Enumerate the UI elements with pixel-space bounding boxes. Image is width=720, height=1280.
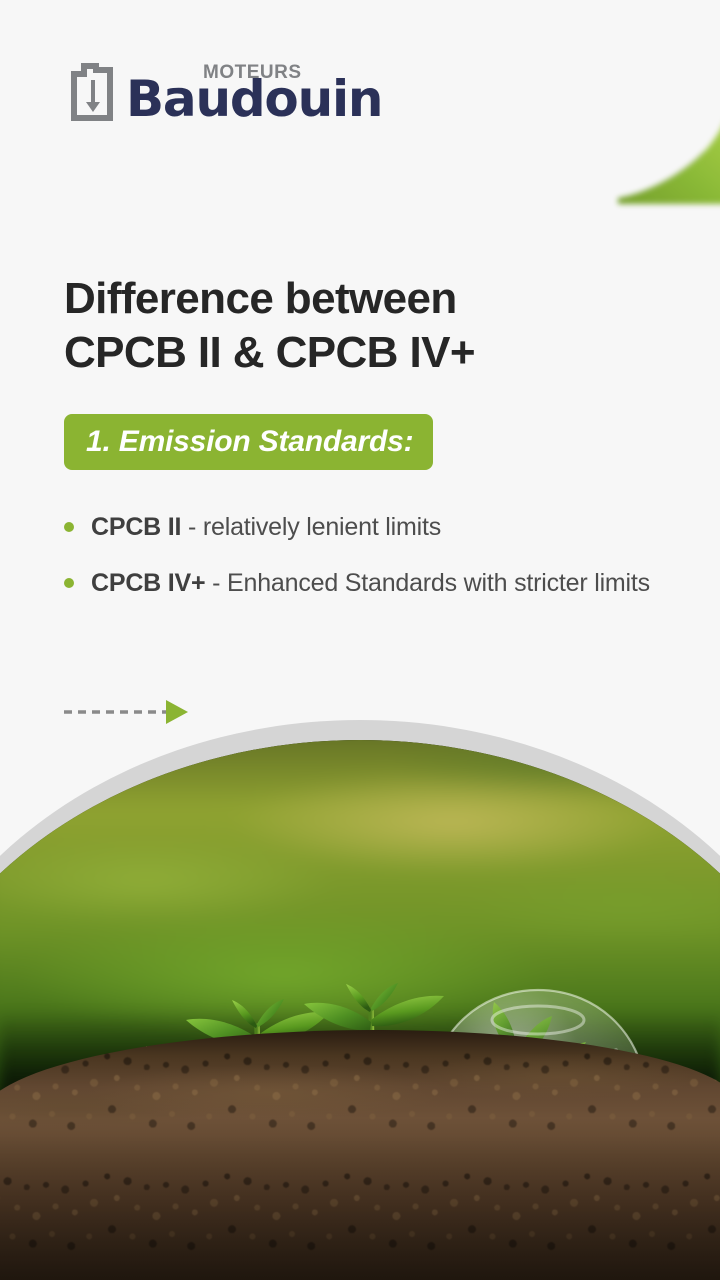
soil-shadow bbox=[0, 1030, 720, 1280]
bullet-description: - relatively lenient limits bbox=[181, 513, 441, 541]
bullet-dot-icon bbox=[64, 578, 74, 588]
baudouin-logo-mark bbox=[64, 62, 120, 122]
list-item: CPCB II - relatively lenient limits bbox=[64, 508, 654, 546]
bullet-term: CPCB IV+ bbox=[91, 569, 205, 597]
page-title: Difference between CPCB II & CPCB IV+ bbox=[64, 272, 664, 380]
page-title-line-1: Difference between bbox=[64, 272, 664, 326]
bullet-term: CPCB II bbox=[91, 513, 181, 541]
green-leaf-decoration bbox=[612, 108, 720, 204]
hero-image bbox=[0, 720, 720, 1280]
page-title-line-2: CPCB II & CPCB IV+ bbox=[64, 326, 664, 380]
section-banner: 1. Emission Standards: bbox=[64, 414, 433, 470]
soil-mound bbox=[0, 1030, 720, 1280]
bullet-text: CPCB IV+ - Enhanced Standards with stric… bbox=[91, 564, 650, 602]
section-banner-label: 1. Emission Standards: bbox=[86, 427, 413, 457]
logo-baudouin-text: Baudouin bbox=[126, 74, 382, 124]
list-item: CPCB IV+ - Enhanced Standards with stric… bbox=[64, 564, 654, 602]
bullet-description: - Enhanced Standards with stricter limit… bbox=[205, 569, 650, 597]
bullet-dot-icon bbox=[64, 522, 74, 532]
brand-logo[interactable]: MOTEURS Baudouin bbox=[64, 60, 126, 122]
bullet-text: CPCB II - relatively lenient limits bbox=[91, 508, 441, 546]
bullet-list: CPCB II - relatively lenient limits CPCB… bbox=[64, 508, 654, 620]
hero-photo-clip bbox=[0, 740, 720, 1280]
